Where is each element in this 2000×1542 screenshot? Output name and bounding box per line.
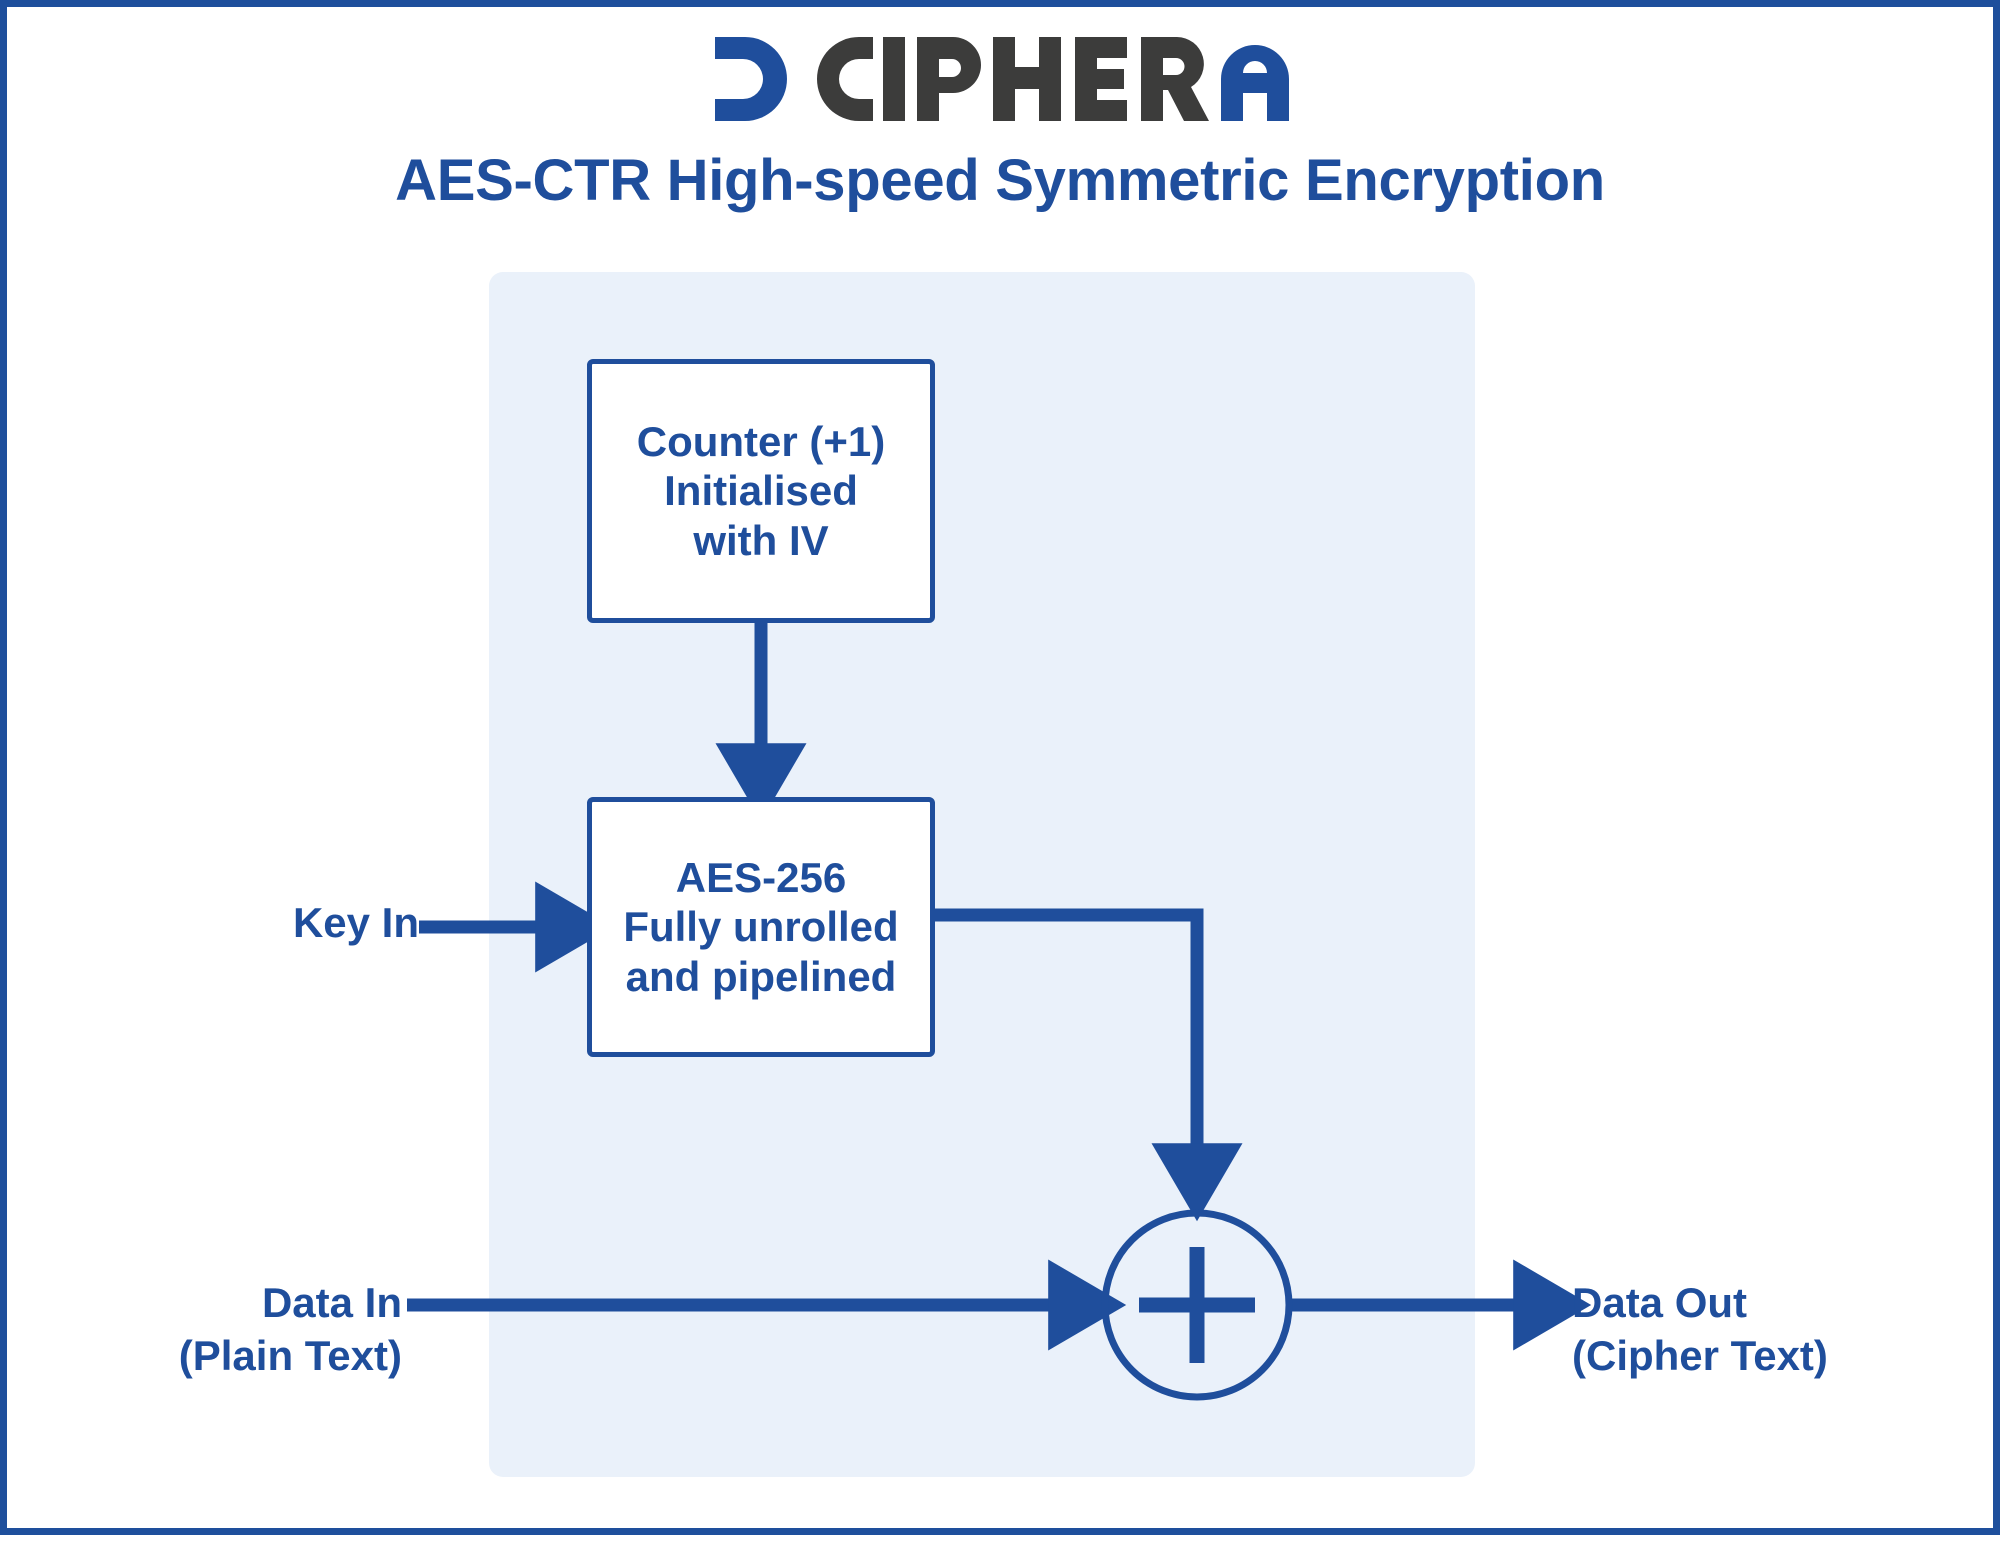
aes-line-1: AES-256 [676, 853, 846, 903]
reversed-d-mark-icon [715, 37, 787, 121]
aes-block: AES-256 Fully unrolled and pipelined [587, 797, 935, 1057]
ciphera-logo-svg [711, 31, 1141, 127]
diagram-page: AES-CTR High-speed Symmetric Encryption [0, 0, 2000, 1535]
counter-line-3: with IV [693, 516, 828, 566]
page-title: AES-CTR High-speed Symmetric Encryption [7, 147, 1993, 214]
key-in-label: Key In [239, 897, 419, 950]
ciphera-logo-svg-2 [1139, 31, 1289, 127]
data-in-line-1: Data In [102, 1277, 402, 1330]
data-in-label: Data In (Plain Text) [102, 1277, 402, 1382]
data-out-line-2: (Cipher Text) [1572, 1330, 1992, 1383]
data-out-line-1: Data Out [1572, 1277, 1992, 1330]
counter-line-1: Counter (+1) [637, 417, 886, 467]
data-out-label: Data Out (Cipher Text) [1572, 1277, 1992, 1382]
data-in-line-2: (Plain Text) [102, 1330, 402, 1383]
aes-line-2: Fully unrolled [623, 902, 898, 952]
aes-line-3: and pipelined [626, 952, 897, 1002]
ciphera-logo [7, 29, 1993, 129]
counter-line-2: Initialised [664, 466, 858, 516]
counter-block: Counter (+1) Initialised with IV [587, 359, 935, 623]
